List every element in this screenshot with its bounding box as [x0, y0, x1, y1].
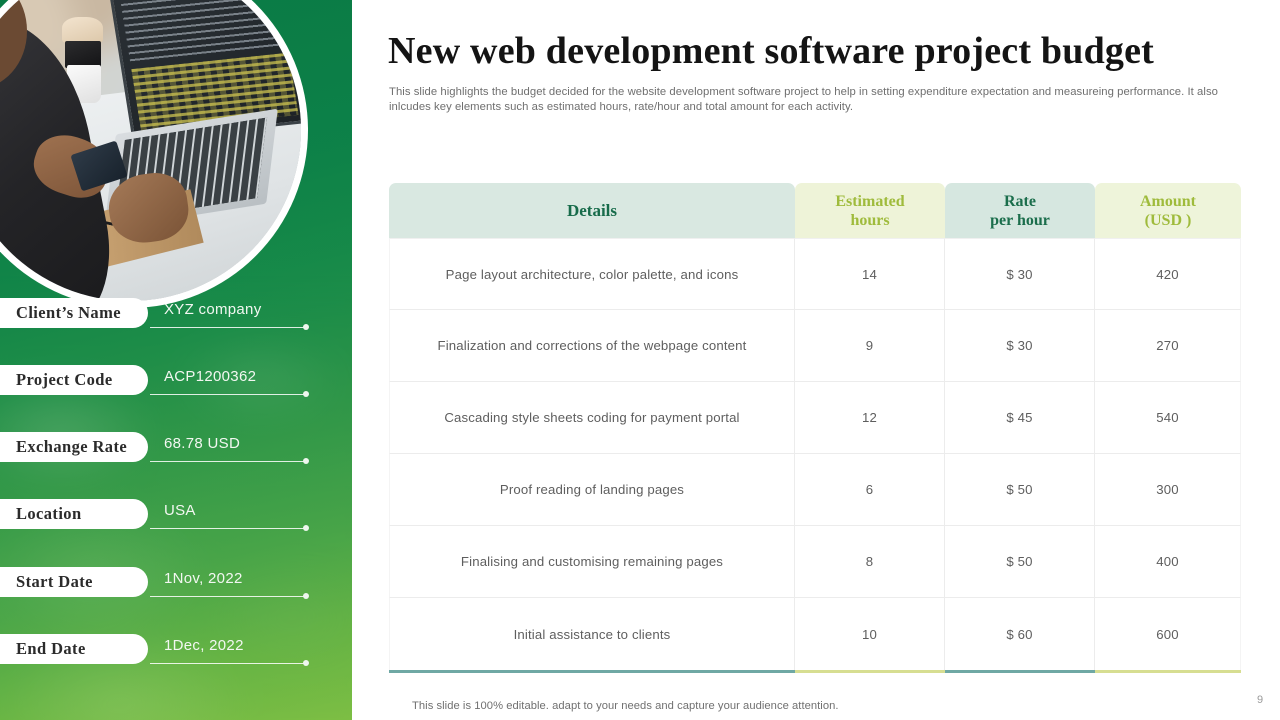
cell-hours: 12: [795, 382, 945, 454]
column-header-amount-line1: Amount: [1099, 192, 1237, 211]
cell-rate: $ 60: [945, 598, 1095, 670]
table-row[interactable]: Initial assistance to clients 10 $ 60 60…: [389, 598, 1241, 670]
cell-amount: 400: [1095, 526, 1241, 598]
cell-details: Cascading style sheets coding for paymen…: [389, 382, 795, 454]
sidebar-field-value: XYZ company: [164, 301, 262, 318]
accent-segment-rate: [945, 670, 1095, 673]
sidebar-field-underline: [150, 394, 305, 395]
table-row[interactable]: Finalising and customising remaining pag…: [389, 526, 1241, 598]
table-header-row: Details Estimated hours Rate per hour Am…: [389, 183, 1241, 238]
sidebar-field-exchange-rate[interactable]: Exchange Rate 68.78 USD: [0, 432, 352, 466]
column-header-rate-line1: Rate: [949, 192, 1091, 211]
column-header-amount-line2: (USD ): [1099, 211, 1237, 230]
sidebar-field-label-pill: Exchange Rate: [0, 432, 148, 462]
hero-photo-image: [0, 0, 301, 301]
sidebar-field-label-pill: Start Date: [0, 567, 148, 597]
sidebar-field-start-date[interactable]: Start Date 1Nov, 2022: [0, 567, 352, 601]
sidebar-field-value: USA: [164, 502, 196, 519]
sidebar-field-label-pill: Client’s Name: [0, 298, 148, 328]
accent-segment-hours: [795, 670, 945, 673]
sidebar-field-label-pill: Location: [0, 499, 148, 529]
table-row[interactable]: Cascading style sheets coding for paymen…: [389, 382, 1241, 454]
cell-hours: 8: [795, 526, 945, 598]
sidebar-field-project-code[interactable]: Project Code ACP1200362: [0, 365, 352, 399]
sidebar-field-label: Exchange Rate: [16, 437, 127, 457]
sidebar-field-label-pill: End Date: [0, 634, 148, 664]
cell-details: Page layout architecture, color palette,…: [389, 238, 795, 310]
photo-code-lines-top: [120, 0, 288, 63]
sidebar-panel: Client’s Name XYZ company Project Code A…: [0, 0, 352, 720]
sidebar-field-underline: [150, 528, 305, 529]
cell-amount: 270: [1095, 310, 1241, 382]
table-bottom-accent-line: [389, 670, 1241, 673]
cell-hours: 9: [795, 310, 945, 382]
cell-rate: $ 50: [945, 526, 1095, 598]
column-header-rate-per-hour[interactable]: Rate per hour: [945, 183, 1095, 238]
sidebar-field-dot: [303, 593, 309, 599]
sidebar-field-underline: [150, 663, 305, 664]
column-header-hours-line1: Estimated: [799, 192, 941, 211]
sidebar-field-clients-name[interactable]: Client’s Name XYZ company: [0, 298, 352, 332]
column-header-details-line1: Details: [393, 201, 791, 220]
column-header-details[interactable]: Details: [389, 183, 795, 238]
sidebar-field-location[interactable]: Location USA: [0, 499, 352, 533]
table-row[interactable]: Finalization and corrections of the webp…: [389, 310, 1241, 382]
sidebar-field-value: 1Nov, 2022: [164, 570, 243, 587]
budget-table: Details Estimated hours Rate per hour Am…: [389, 183, 1241, 670]
sidebar-field-label: End Date: [16, 639, 86, 659]
page-title: New web development software project bud…: [388, 28, 1154, 74]
sidebar-field-value: ACP1200362: [164, 368, 256, 385]
hero-photo-ring: [0, 0, 308, 308]
cell-details: Initial assistance to clients: [389, 598, 795, 670]
sidebar-field-end-date[interactable]: End Date 1Dec, 2022: [0, 634, 352, 668]
column-header-rate-line2: per hour: [949, 211, 1091, 230]
sidebar-field-label-pill: Project Code: [0, 365, 148, 395]
table-row[interactable]: Page layout architecture, color palette,…: [389, 238, 1241, 310]
page-subtitle: This slide highlights the budget decided…: [389, 85, 1239, 115]
sidebar-field-underline: [150, 596, 305, 597]
table-row[interactable]: Proof reading of landing pages 6 $ 50 30…: [389, 454, 1241, 526]
cell-amount: 600: [1095, 598, 1241, 670]
table-header: Details Estimated hours Rate per hour Am…: [389, 183, 1241, 238]
sidebar-field-dot: [303, 660, 309, 666]
cell-hours: 10: [795, 598, 945, 670]
cell-hours: 6: [795, 454, 945, 526]
sidebar-field-label: Start Date: [16, 572, 93, 592]
column-header-estimated-hours[interactable]: Estimated hours: [795, 183, 945, 238]
cell-details: Proof reading of landing pages: [389, 454, 795, 526]
slide-editable-note: This slide is 100% editable. adapt to yo…: [412, 700, 839, 712]
sidebar-field-underline: [150, 327, 305, 328]
sidebar-field-dot: [303, 525, 309, 531]
main-content: New web development software project bud…: [352, 0, 1280, 720]
cell-rate: $ 30: [945, 238, 1095, 310]
column-header-amount-usd[interactable]: Amount (USD ): [1095, 183, 1241, 238]
sidebar-field-value: 68.78 USD: [164, 435, 240, 452]
cell-rate: $ 45: [945, 382, 1095, 454]
sidebar-field-underline: [150, 461, 305, 462]
slide-canvas: Client’s Name XYZ company Project Code A…: [0, 0, 1280, 720]
accent-segment-amount: [1095, 670, 1241, 673]
page-number: 9: [1257, 694, 1263, 706]
budget-table-container: Details Estimated hours Rate per hour Am…: [389, 183, 1241, 670]
cell-amount: 420: [1095, 238, 1241, 310]
cell-hours: 14: [795, 238, 945, 310]
cell-rate: $ 30: [945, 310, 1095, 382]
cell-rate: $ 50: [945, 454, 1095, 526]
table-body: Page layout architecture, color palette,…: [389, 238, 1241, 670]
cell-amount: 540: [1095, 382, 1241, 454]
sidebar-field-label: Client’s Name: [16, 303, 121, 323]
sidebar-field-dot: [303, 391, 309, 397]
sidebar-field-label: Project Code: [16, 370, 113, 390]
sidebar-field-dot: [303, 458, 309, 464]
accent-segment-details: [389, 670, 795, 673]
cell-details: Finalization and corrections of the webp…: [389, 310, 795, 382]
sidebar-field-dot: [303, 324, 309, 330]
cell-details: Finalising and customising remaining pag…: [389, 526, 795, 598]
sidebar-field-value: 1Dec, 2022: [164, 637, 244, 654]
sidebar-field-label: Location: [16, 504, 82, 524]
cell-amount: 300: [1095, 454, 1241, 526]
column-header-hours-line2: hours: [799, 211, 941, 230]
